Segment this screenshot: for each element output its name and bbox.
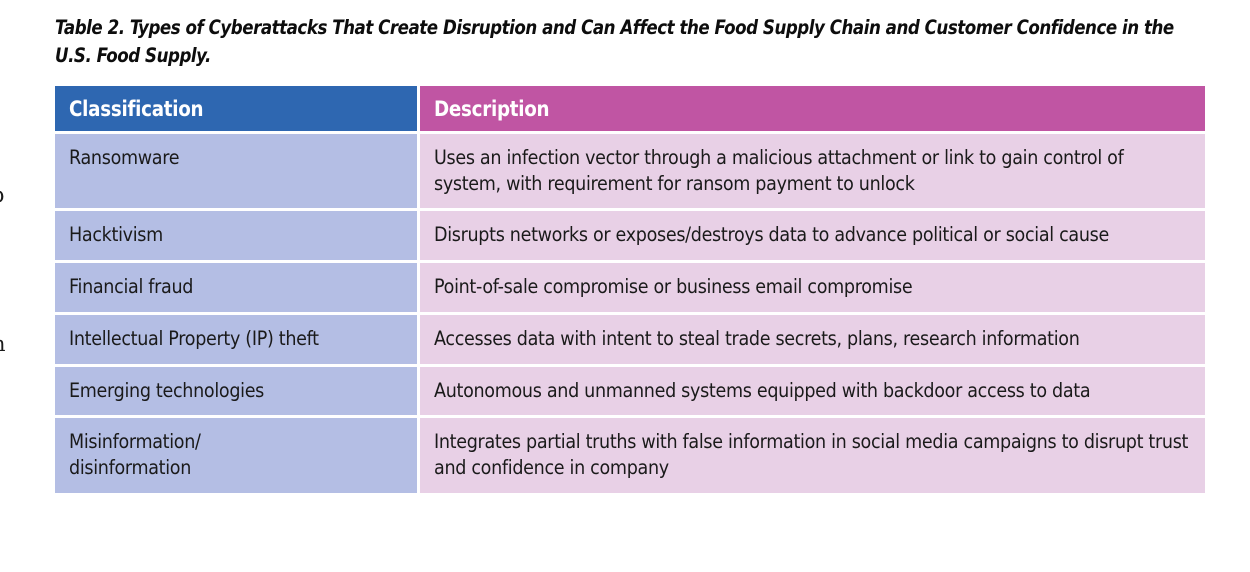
cell-classification: Misinformation/ disinformation [55, 415, 420, 492]
cell-description: Autonomous and unmanned systems equipped… [420, 364, 1205, 416]
table-row: Misinformation/ disinformation Integrate… [55, 415, 1205, 492]
cell-description: Point-of-sale compromise or business ema… [420, 260, 1205, 312]
cell-classification-text: Misinformation/ disinformation [69, 429, 401, 480]
cell-description-text: Autonomous and unmanned systems equipped… [434, 378, 1188, 404]
cell-description-text: Accesses data with intent to steal trade… [434, 326, 1188, 352]
table-caption: Table 2. Types of Cyberattacks That Crea… [55, 14, 1201, 69]
column-header-classification: Classification [55, 86, 420, 131]
cell-classification: Ransomware [55, 131, 420, 208]
cyberattack-types-table: Classification Description Ransomware Us… [55, 86, 1205, 493]
table-header-row: Classification Description [55, 86, 1205, 131]
table-row: Financial fraud Point-of-sale compromise… [55, 260, 1205, 312]
margin-fragment-glyph: p [0, 185, 4, 206]
cell-description: Accesses data with intent to steal trade… [420, 312, 1205, 364]
column-header-description-label: Description [434, 97, 549, 121]
table-row: Hacktivism Disrupts networks or exposes/… [55, 208, 1205, 260]
cell-description-text: Integrates partial truths with false inf… [434, 429, 1188, 480]
table-row: Intellectual Property (IP) theft Accesse… [55, 312, 1205, 364]
cell-classification-text: Emerging technologies [69, 378, 401, 404]
cell-description: Disrupts networks or exposes/destroys da… [420, 208, 1205, 260]
margin-fragment-glyph: n [0, 334, 6, 355]
page-margin-bleed: p · n [0, 0, 48, 572]
cell-classification-text: Ransomware [69, 145, 401, 171]
cell-classification-text: Financial fraud [69, 274, 401, 300]
table-row: Emerging technologies Autonomous and unm… [55, 364, 1205, 416]
cell-classification: Financial fraud [55, 260, 420, 312]
cell-classification-text: Hacktivism [69, 222, 401, 248]
cell-description: Integrates partial truths with false inf… [420, 415, 1205, 492]
cell-classification: Hacktivism [55, 208, 420, 260]
cell-description-text: Point-of-sale compromise or business ema… [434, 274, 1188, 300]
cell-classification-text: Intellectual Property (IP) theft [69, 326, 401, 352]
cell-description-text: Uses an infection vector through a malic… [434, 145, 1188, 196]
table-row: Ransomware Uses an infection vector thro… [55, 131, 1205, 208]
cell-description-text: Disrupts networks or exposes/destroys da… [434, 222, 1188, 248]
column-header-classification-label: Classification [69, 97, 203, 121]
cell-description: Uses an infection vector through a malic… [420, 131, 1205, 208]
cell-classification: Intellectual Property (IP) theft [55, 312, 420, 364]
column-header-description: Description [420, 86, 1205, 131]
cell-classification: Emerging technologies [55, 364, 420, 416]
